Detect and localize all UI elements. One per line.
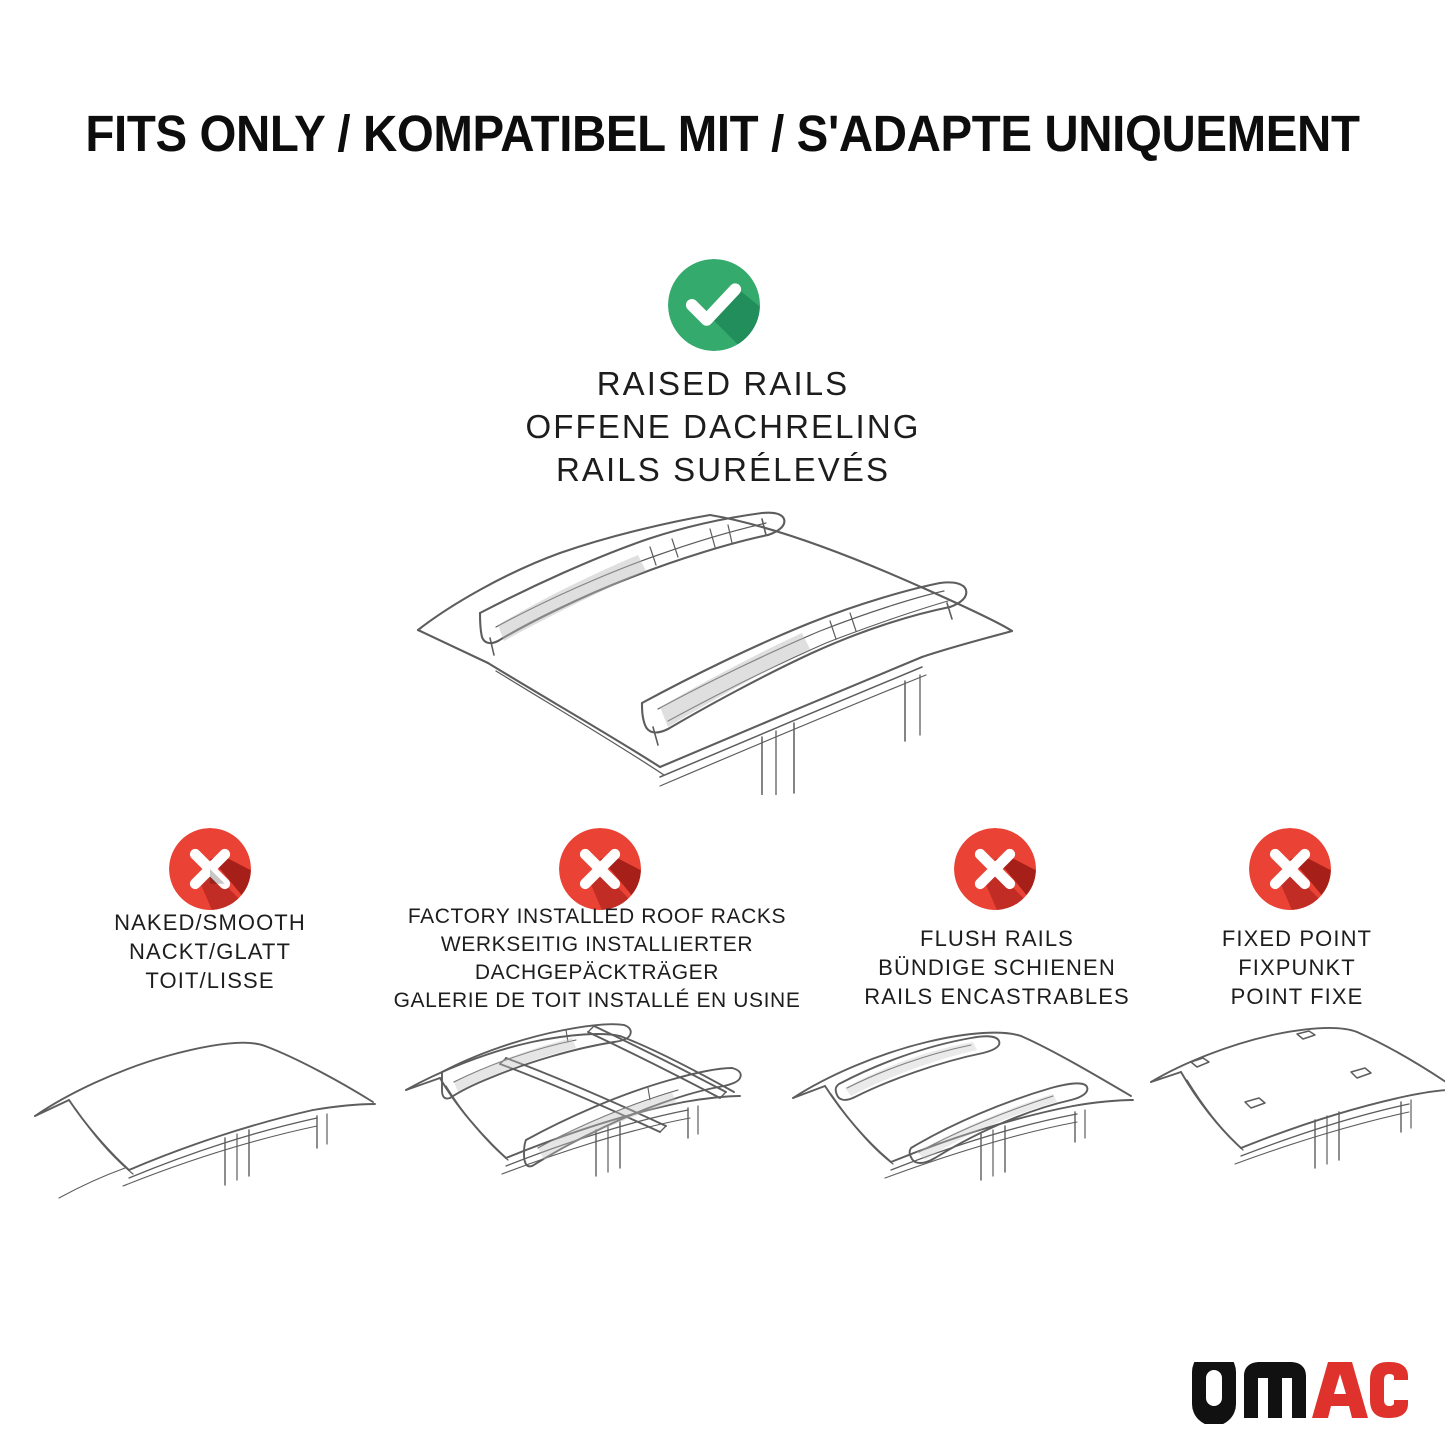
car-roof-fixed-point-illustration: [1145, 1020, 1445, 1245]
car-roof-flush-rails-illustration: [785, 1020, 1145, 1245]
cross-circle-icon: [1249, 828, 1331, 910]
cross-circle-icon: [169, 828, 251, 910]
caption-line: NACKT/GLATT: [30, 937, 390, 966]
caption-line: RAISED RAILS: [323, 362, 1123, 405]
caption-line: WERKSEITIG INSTALLIERTER: [352, 931, 842, 959]
caption-line: FIXED POINT: [1162, 924, 1432, 953]
caption-line: POINT FIXE: [1162, 982, 1432, 1011]
incompatible-caption-1: NAKED/SMOOTH NACKT/GLATT TOIT/LISSE: [30, 908, 390, 995]
infographic-page: FITS ONLY / KOMPATIBEL MIT / S'ADAPTE UN…: [0, 0, 1445, 1445]
cross-circle-icon: [559, 828, 641, 910]
incompatible-caption-3: FLUSH RAILS BÜNDIGE SCHIENEN RAILS ENCAS…: [832, 924, 1162, 1011]
car-roof-factory-roof-racks-illustration: [398, 1020, 758, 1245]
logo-om-black: [1192, 1362, 1306, 1424]
caption-line: OFFENE DACHRELING: [323, 405, 1123, 448]
caption-line: TOIT/LISSE: [30, 966, 390, 995]
car-roof-naked-smooth-illustration: [25, 1020, 385, 1245]
omac-logo: [1192, 1362, 1408, 1424]
caption-line: RAILS ENCASTRABLES: [832, 982, 1162, 1011]
logo-ac-red: [1312, 1362, 1408, 1418]
caption-line: BÜNDIGE SCHIENEN: [832, 953, 1162, 982]
check-circle-icon: [668, 259, 760, 351]
caption-line: NAKED/SMOOTH: [30, 908, 390, 937]
caption-line: FLUSH RAILS: [832, 924, 1162, 953]
page-title: FITS ONLY / KOMPATIBEL MIT / S'ADAPTE UN…: [51, 104, 1395, 164]
caption-line: GALERIE DE TOIT INSTALLÉ EN USINE: [352, 987, 842, 1015]
caption-line: DACHGEPÄCKTRÄGER: [352, 959, 842, 987]
caption-line: RAILS SURÉLEVÉS: [323, 448, 1123, 491]
incompatible-caption-4: FIXED POINT FIXPUNKT POINT FIXE: [1162, 924, 1432, 1011]
car-roof-raised-rails-illustration: [410, 495, 1020, 795]
incompatible-caption-2: FACTORY INSTALLED ROOF RACKS WERKSEITIG …: [352, 903, 842, 1015]
caption-line: FACTORY INSTALLED ROOF RACKS: [352, 903, 842, 931]
caption-line: FIXPUNKT: [1162, 953, 1432, 982]
compatible-caption: RAISED RAILS OFFENE DACHRELING RAILS SUR…: [323, 362, 1123, 491]
cross-circle-icon: [954, 828, 1036, 910]
